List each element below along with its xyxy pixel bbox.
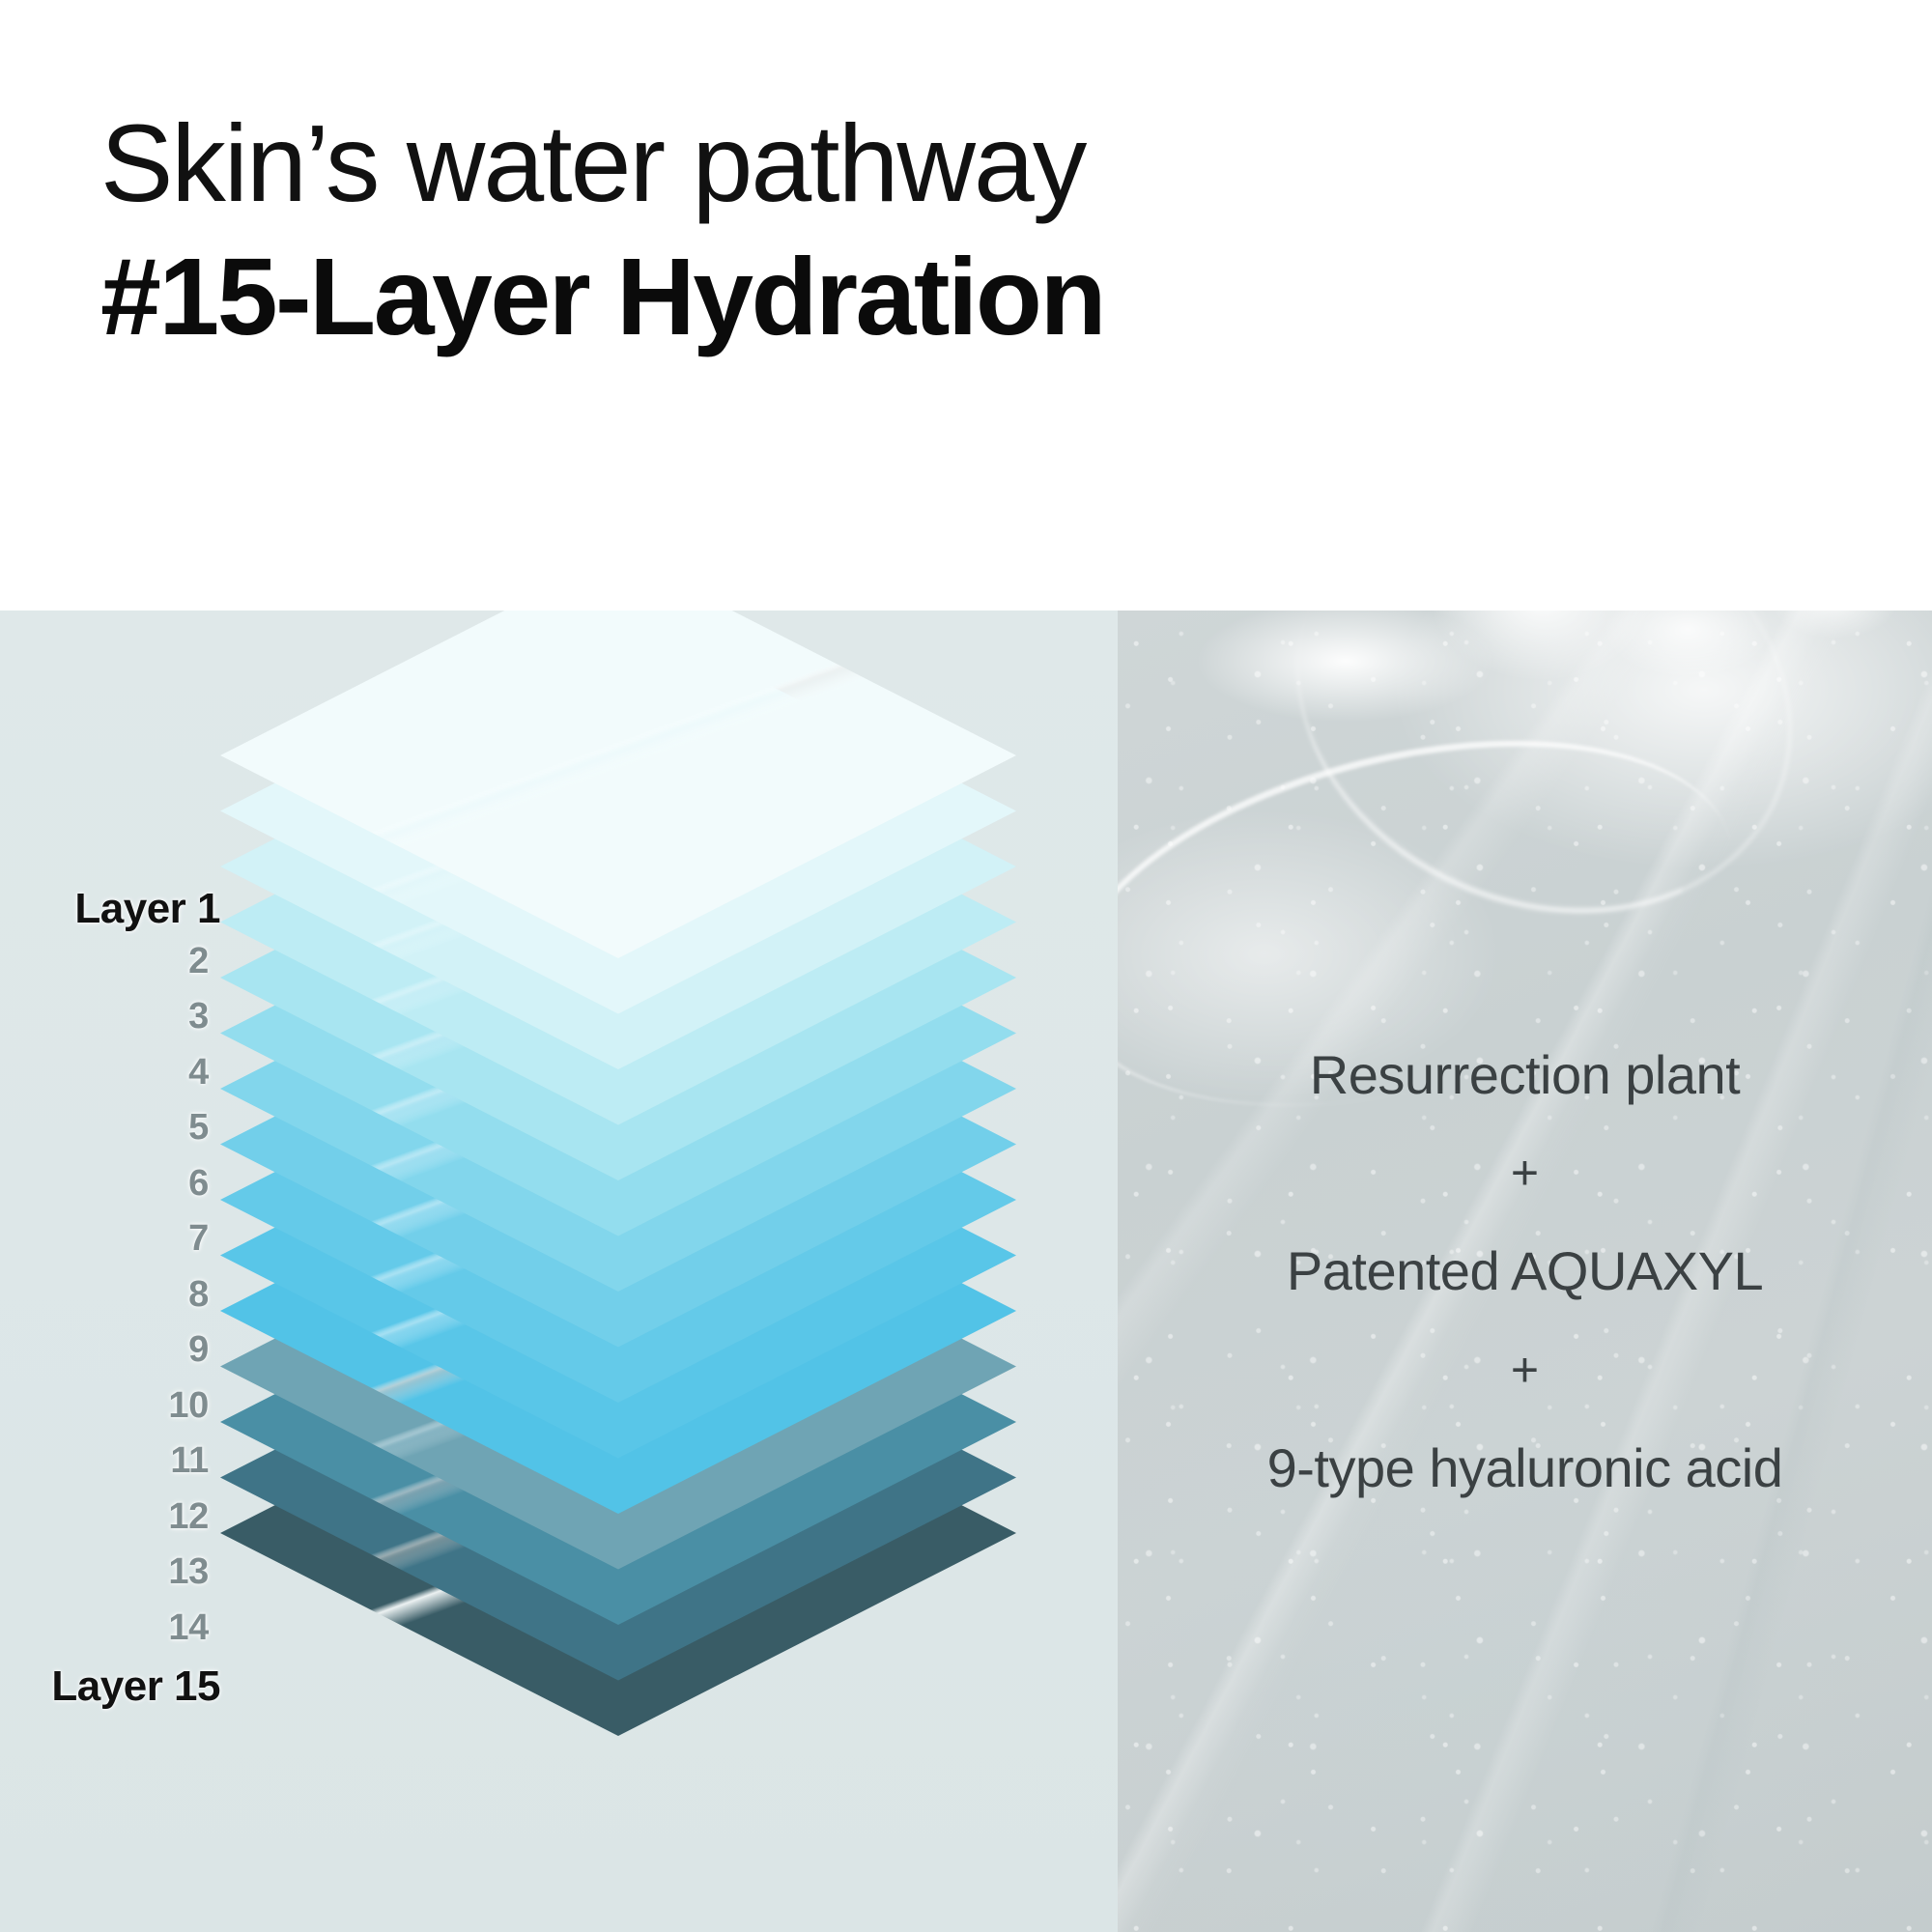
layer-diagram-panel: Layer 1234567891011121314Layer 15 [0,611,1118,1932]
layer-label-column: Layer 1234567891011121314Layer 15 [0,611,232,1932]
ingredient-plus-3: + [1511,1346,1539,1394]
layer-label-2: 2 [188,941,209,982]
layer-label-14: 14 [168,1607,209,1649]
ingredient-text-2: Patented AQUAXYL [1287,1241,1763,1301]
infographic-page: Skin’s water pathway #15-Layer Hydration… [0,0,1932,1932]
content-section: Layer 1234567891011121314Layer 15 Resurr… [0,611,1932,1932]
layer-label-15: Layer 15 [51,1662,220,1711]
ingredient-text-0: Resurrection plant [1310,1045,1740,1105]
headline-title: #15-Layer Hydration [100,240,1104,355]
layer-label-11: 11 [170,1440,209,1482]
header-section: Skin’s water pathway #15-Layer Hydration [0,0,1932,611]
layer-label-5: 5 [188,1107,209,1149]
layer-label-1: Layer 1 [74,885,220,933]
gel-photo-panel: Resurrection plant+Patented AQUAXYL+9-ty… [1118,611,1932,1932]
ingredient-text-4: 9-type hyaluronic acid [1267,1438,1783,1498]
layer-label-8: 8 [188,1274,209,1316]
layer-label-13: 13 [168,1551,209,1593]
layer-label-7: 7 [188,1218,209,1260]
ingredient-plus-1: + [1511,1149,1539,1197]
layer-label-3: 3 [188,996,209,1037]
layer-label-10: 10 [168,1385,209,1427]
layer-label-9: 9 [188,1329,209,1371]
layer-label-4: 4 [188,1052,209,1094]
layer-label-12: 12 [168,1496,209,1538]
headline-subtitle: Skin’s water pathway [100,106,1085,221]
ingredient-list: Resurrection plant+Patented AQUAXYL+9-ty… [1118,611,1932,1932]
layer-label-6: 6 [188,1163,209,1205]
